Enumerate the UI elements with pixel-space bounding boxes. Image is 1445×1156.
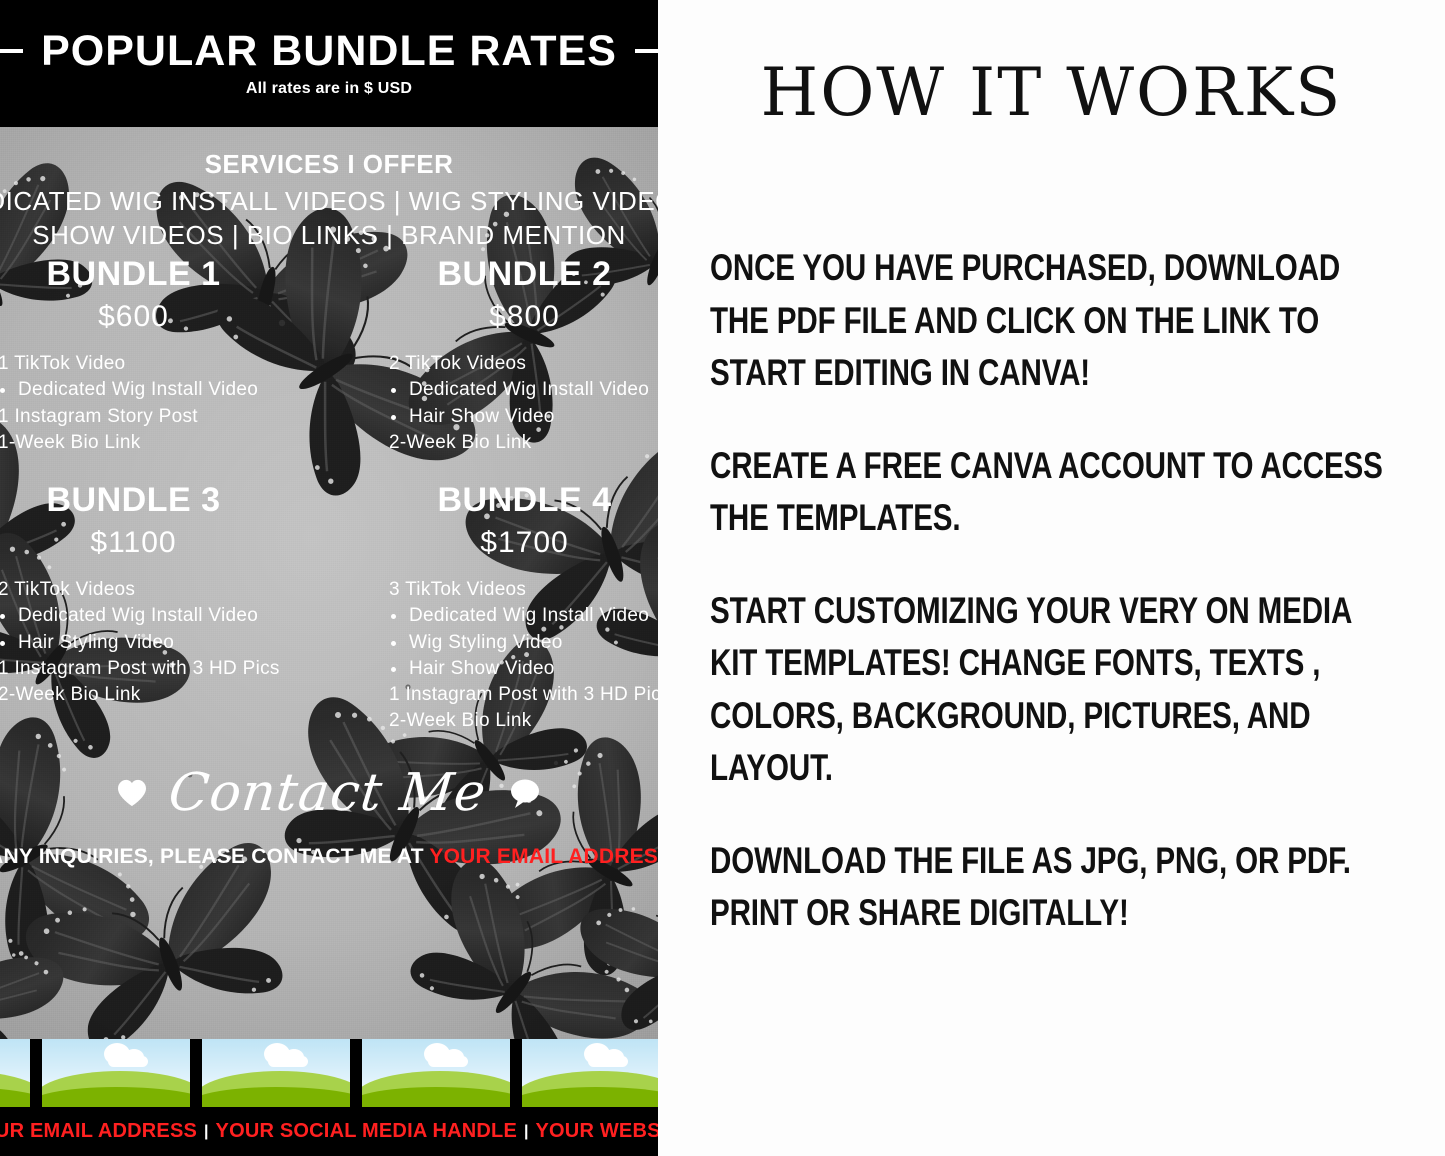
footer-social-placeholder: YOUR SOCIAL MEDIA HANDLE <box>216 1120 517 1143</box>
kit-content: SERVICES I OFFER DEDICATED WIG INSTALL V… <box>0 127 658 1039</box>
hill-dark <box>362 1087 510 1107</box>
how-it-works-steps: ONCE YOU HAVE PURCHASED, DOWNLOAD THE PD… <box>710 205 1400 940</box>
kit-header: POPULAR BUNDLE RATES All rates are in $ … <box>0 0 658 127</box>
cloud-icon <box>264 1049 308 1067</box>
bundle-item: 1 Instagram Post with 3 HD Pics <box>0 656 311 682</box>
hill-dark <box>522 1087 658 1107</box>
bundle-items: 2 TikTok Videos Dedicated Wig Install Vi… <box>347 351 658 456</box>
placeholder-photo <box>362 1039 510 1107</box>
inquiries-email-placeholder: YOUR EMAIL ADDRESS HERE <box>429 845 658 868</box>
bundle-item: 1 TikTok Video <box>0 351 311 377</box>
speech-bubble-icon <box>509 778 541 808</box>
bundle-price: $1700 <box>347 526 658 560</box>
bundle-item: 2-Week Bio Link <box>0 682 311 708</box>
bundle-item: Dedicated Wig Install Video <box>347 377 658 403</box>
bundle-item: Dedicated Wig Install Video <box>0 603 311 629</box>
bundle-item: 1 Instagram Post with 3 HD Pics <box>347 682 658 708</box>
footer-website-placeholder: YOUR WEBSITE <box>536 1120 659 1143</box>
cloud-icon <box>424 1049 468 1067</box>
how-it-works-step: START CUSTOMIZING YOUR VERY ON MEDIA KIT… <box>710 585 1400 795</box>
cloud-icon <box>104 1049 148 1067</box>
kit-footer: YOUR EMAIL ADDRESS | YOUR SOCIAL MEDIA H… <box>0 1107 658 1156</box>
how-it-works-step: CREATE A FREE CANVA ACCOUNT TO ACCESS TH… <box>710 440 1400 545</box>
bundle-price: $1100 <box>0 526 311 560</box>
footer-separator-1: | <box>204 1123 208 1141</box>
inquiries-line: FOR ANY INQUIRIES, PLEASE CONTACT ME AT … <box>0 845 658 869</box>
how-it-works-title: HOW IT WORKS <box>658 60 1445 126</box>
bundle-name: BUNDLE 4 <box>347 481 658 520</box>
bundle-item: 2 TikTok Videos <box>0 577 311 603</box>
placeholder-photo <box>42 1039 190 1107</box>
placeholder-photo <box>202 1039 350 1107</box>
bundle-items: 3 TikTok Videos Dedicated Wig Install Vi… <box>347 577 658 734</box>
bundle-name: BUNDLE 2 <box>347 255 658 294</box>
bundle-item: Wig Styling Video <box>347 630 658 656</box>
dash-right-icon <box>635 49 658 53</box>
how-it-works-step: DOWNLOAD THE FILE AS JPG, PNG, OR PDF. P… <box>710 835 1400 940</box>
services-heading: SERVICES I OFFER <box>0 149 658 180</box>
bundle-item: Hair Styling Video <box>0 630 311 656</box>
bundle-card-3: BUNDLE 3 $1100 2 TikTok Videos Dedicated… <box>0 481 329 734</box>
bundle-price: $600 <box>0 300 311 334</box>
cloud-icon <box>584 1049 628 1067</box>
heart-icon <box>117 779 147 807</box>
services-list: DEDICATED WIG INSTALL VIDEOS | WIG STYLI… <box>0 185 658 253</box>
bundle-item: 2 TikTok Videos <box>347 351 658 377</box>
contact-me-label: Contact Me <box>167 767 490 819</box>
bundle-item: Dedicated Wig Install Video <box>347 603 658 629</box>
filmstrip-track <box>0 1039 658 1107</box>
services-line-1: DEDICATED WIG INSTALL VIDEOS | WIG STYLI… <box>0 185 658 219</box>
bundle-items: 2 TikTok Videos Dedicated Wig Install Vi… <box>0 577 311 708</box>
bundle-item: Hair Show Video <box>347 656 658 682</box>
bundle-price: $800 <box>347 300 658 334</box>
bundle-item: Hair Show Video <box>347 404 658 430</box>
how-it-works-panel: HOW IT WORKS ONCE YOU HAVE PURCHASED, DO… <box>658 0 1445 1156</box>
bundle-item: 3 TikTok Videos <box>347 577 658 603</box>
kit-title: POPULAR BUNDLE RATES <box>41 30 617 73</box>
bundle-item: 1 Instagram Story Post <box>0 404 311 430</box>
bundle-card-4: BUNDLE 4 $1700 3 TikTok Videos Dedicated… <box>329 481 658 734</box>
kit-subtitle: All rates are in $ USD <box>246 80 412 98</box>
media-kit-preview-panel: POPULAR BUNDLE RATES All rates are in $ … <box>0 0 658 1156</box>
footer-separator-2: | <box>524 1123 528 1141</box>
placeholder-photo <box>522 1039 658 1107</box>
contact-me-row: Contact Me <box>0 767 658 819</box>
kit-body: SERVICES I OFFER DEDICATED WIG INSTALL V… <box>0 127 658 1039</box>
kit-title-row: POPULAR BUNDLE RATES <box>0 30 658 73</box>
media-kit-artwork: POPULAR BUNDLE RATES All rates are in $ … <box>0 0 658 1156</box>
bundle-card-2: BUNDLE 2 $800 2 TikTok Videos Dedicated … <box>329 255 658 456</box>
placeholder-photo <box>0 1039 30 1107</box>
hill-dark <box>202 1087 350 1107</box>
dash-left-icon <box>0 49 23 53</box>
hill-dark <box>42 1087 190 1107</box>
bundle-item: 2-Week Bio Link <box>347 708 658 734</box>
bundle-name: BUNDLE 3 <box>0 481 311 520</box>
inquiries-prefix: FOR ANY INQUIRIES, PLEASE CONTACT ME AT <box>0 845 429 868</box>
bundle-card-1: BUNDLE 1 $600 1 TikTok Video Dedicated W… <box>0 255 329 456</box>
listing-page: POPULAR BUNDLE RATES All rates are in $ … <box>0 0 1445 1156</box>
bundle-item: 2-Week Bio Link <box>347 430 658 456</box>
photo-filmstrip <box>0 1039 658 1107</box>
bundle-row-bottom: BUNDLE 3 $1100 2 TikTok Videos Dedicated… <box>0 481 658 734</box>
footer-email-placeholder: YOUR EMAIL ADDRESS <box>0 1120 197 1143</box>
how-it-works-step: ONCE YOU HAVE PURCHASED, DOWNLOAD THE PD… <box>710 242 1400 400</box>
bundle-item: 1-Week Bio Link <box>0 430 311 456</box>
bundle-name: BUNDLE 1 <box>0 255 311 294</box>
services-line-2: SHOW VIDEOS | BIO LINKS | BRAND MENTION <box>0 219 658 253</box>
bundle-items: 1 TikTok Video Dedicated Wig Install Vid… <box>0 351 311 456</box>
bundle-row-top: BUNDLE 1 $600 1 TikTok Video Dedicated W… <box>0 255 658 456</box>
bundle-item: Dedicated Wig Install Video <box>0 377 311 403</box>
bundles-grid: BUNDLE 1 $600 1 TikTok Video Dedicated W… <box>0 255 658 734</box>
